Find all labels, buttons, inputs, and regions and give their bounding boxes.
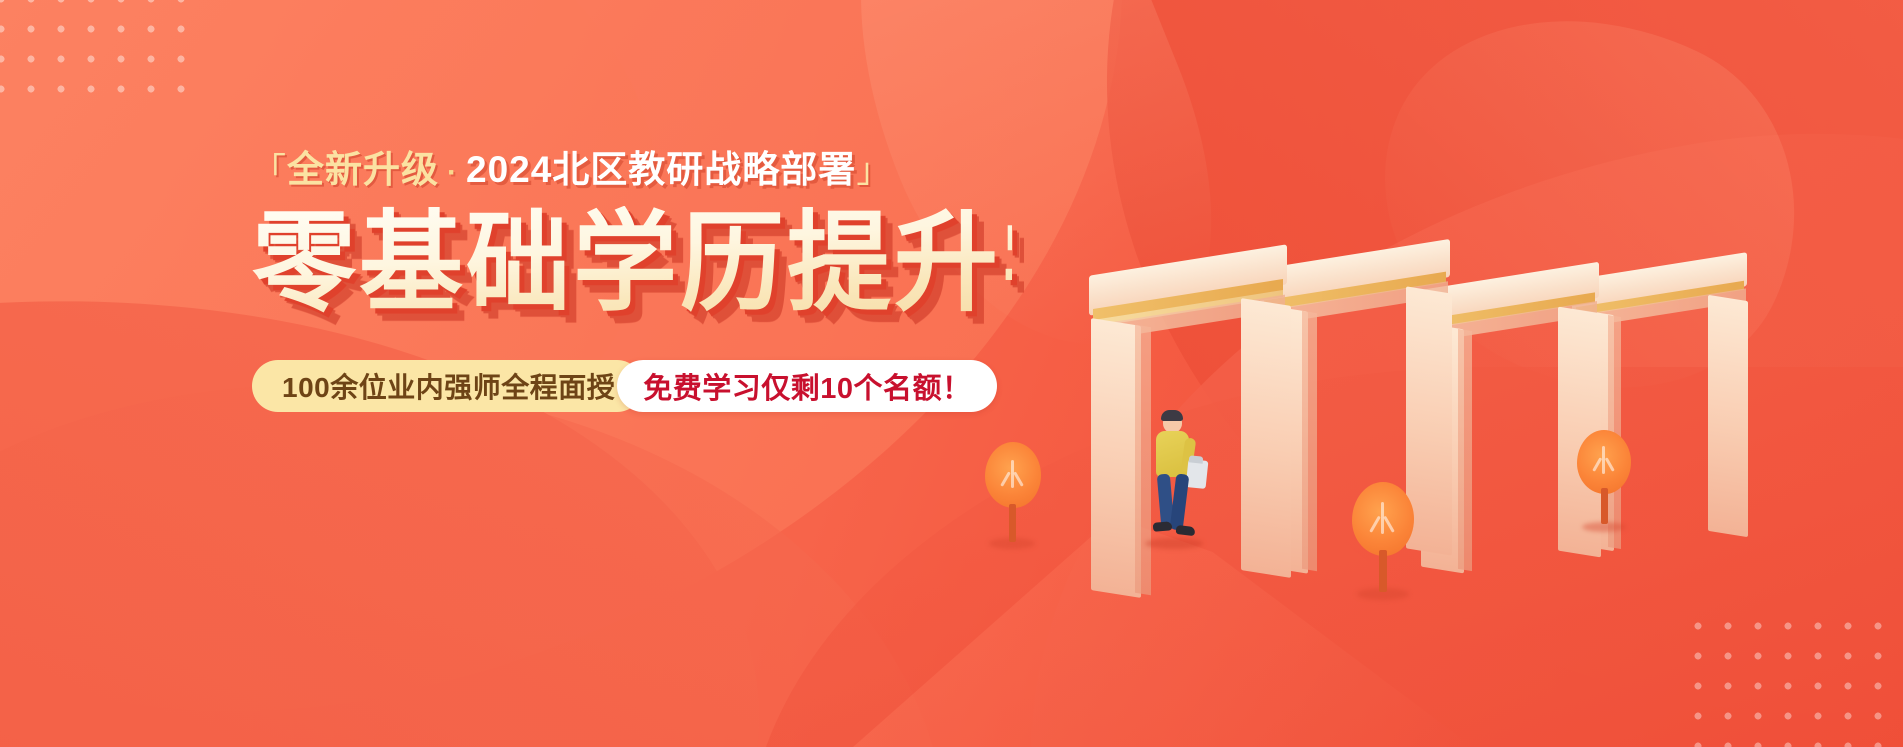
walking-student-figure [1143,412,1217,548]
tree-mid [1341,480,1427,602]
banner-content: 「全新升级·2024北区教研战略部署」 零基础学历提升学霸班 100余位业内强师… [252,148,1012,412]
illustration [1023,0,1903,747]
tree-left [975,440,1053,550]
pill-free-slots[interactable]: 免费学习仅剩10个名额！ [617,360,997,412]
pill-teacher-count[interactable]: 100余位业内强师全程面授 [252,360,643,412]
tree-right [1568,428,1644,534]
subtitle-separator: · [439,156,466,189]
promo-banner: 「全新升级·2024北区教研战略部署」 零基础学历提升学霸班 100余位业内强师… [0,0,1903,747]
banner-title: 零基础学历提升学霸班 [252,206,1012,322]
dot-pattern-top-left [0,0,186,114]
subtitle-open-bracket: 「 [252,152,287,190]
banner-pill-row: 100余位业内强师全程面授 免费学习仅剩10个名额！ [252,360,1012,412]
banner-subtitle: 「全新升级·2024北区教研战略部署」 [252,148,1012,192]
subtitle-close-bracket: 」 [856,152,891,190]
subtitle-highlight: 全新升级 [287,149,439,190]
subtitle-main-text: 2024北区教研战略部署 [466,149,856,190]
